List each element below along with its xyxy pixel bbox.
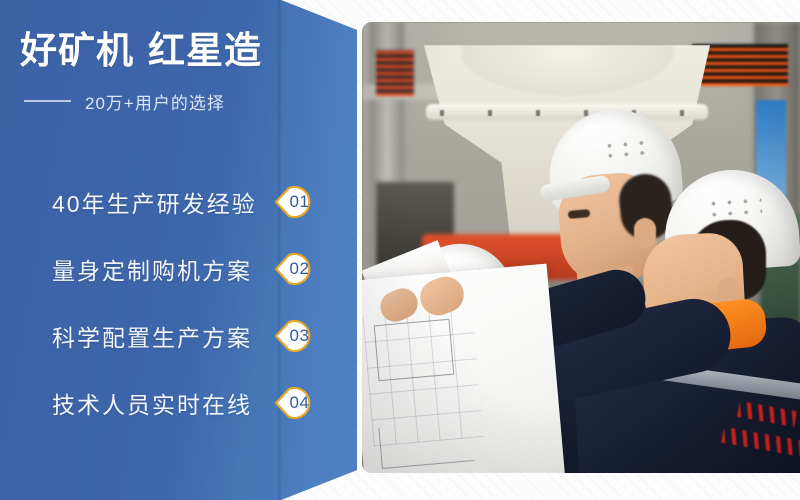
step-badge-02: 02 (272, 247, 320, 291)
feature-item-1[interactable]: 40年生产研发经验 01 (0, 168, 340, 235)
headline-block: 好矿机红星造 20万+用户的选择 (0, 30, 281, 114)
feature-label: 量身定制购机方案 (52, 252, 252, 286)
badge-number: 03 (272, 314, 320, 358)
subtitle-row: 20万+用户的选择 (24, 89, 281, 114)
feature-item-2[interactable]: 量身定制购机方案 02 (0, 235, 340, 302)
engineers-photo (362, 22, 800, 473)
page-title: 好矿机红星造 (20, 30, 281, 73)
promo-banner: 好矿机红星造 20万+用户的选择 40年生产研发经验 01 量身定制购机方案 (0, 0, 800, 500)
subtitle-text: 20万+用户的选择 (85, 89, 225, 114)
photo-vignette (362, 22, 800, 473)
step-badge-03: 03 (272, 314, 320, 358)
feature-label: 40年生产研发经验 (52, 185, 257, 219)
feature-list: 40年生产研发经验 01 量身定制购机方案 02 科学配置生产方案 (0, 168, 340, 436)
feature-label: 技术人员实时在线 (52, 386, 252, 420)
step-badge-04: 04 (272, 381, 320, 425)
feature-item-3[interactable]: 科学配置生产方案 03 (0, 302, 340, 369)
headline-part-2: 红星造 (148, 30, 262, 71)
badge-number: 02 (272, 247, 320, 291)
feature-label: 科学配置生产方案 (52, 319, 252, 353)
subtitle-rule (24, 100, 71, 102)
headline-part-1: 好矿机 (20, 30, 134, 71)
step-badge-01: 01 (272, 180, 320, 224)
feature-item-4[interactable]: 技术人员实时在线 04 (0, 369, 340, 436)
badge-number: 01 (272, 180, 320, 224)
badge-number: 04 (272, 381, 320, 425)
